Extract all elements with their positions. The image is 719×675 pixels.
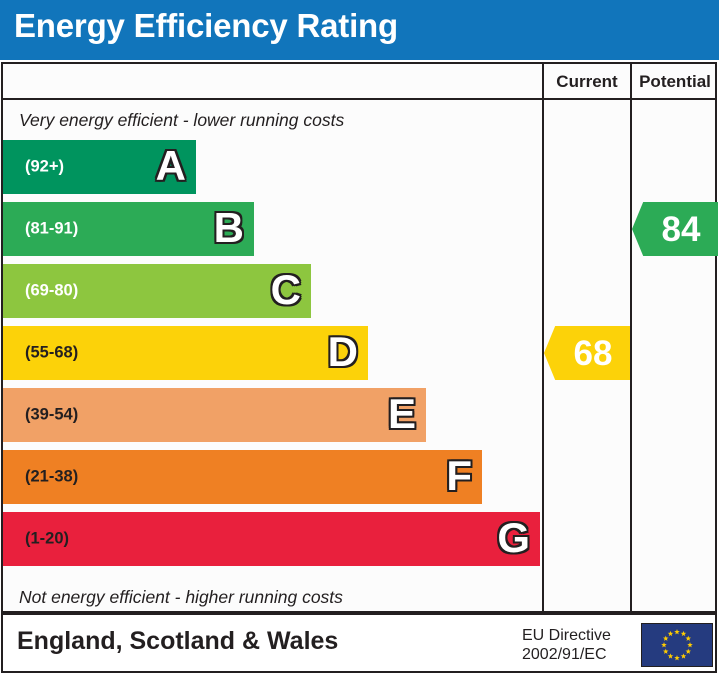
- band-letter-a: A: [156, 145, 186, 187]
- rating-band-c: (69-80)C: [3, 264, 311, 318]
- band-letter-d: D: [328, 331, 358, 373]
- eu-flag-stars: [642, 624, 712, 666]
- rating-marker-current: 68: [544, 326, 630, 380]
- band-range-f: (21-38): [25, 468, 78, 487]
- footer-directive: EU Directive 2002/91/EC: [522, 626, 611, 664]
- caption-top: Very energy efficient - lower running co…: [19, 110, 344, 131]
- rating-band-b: (81-91)B: [3, 202, 254, 256]
- band-range-e: (39-54): [25, 406, 78, 425]
- band-letter-e: E: [388, 393, 416, 435]
- directive-line-1: EU Directive: [522, 626, 611, 645]
- column-header-potential: Potential: [632, 72, 718, 92]
- rating-band-d: (55-68)D: [3, 326, 368, 380]
- page-title: Energy Efficiency Rating: [14, 7, 398, 45]
- rating-band-f: (21-38)F: [3, 450, 482, 504]
- rating-value-potential: 84: [650, 212, 701, 247]
- rating-band-a: (92+)A: [3, 140, 196, 194]
- rating-band-g: (1-20)G: [3, 512, 540, 566]
- band-letter-g: G: [497, 517, 530, 559]
- column-divider-potential: [630, 64, 632, 611]
- energy-efficiency-rating-chart: Energy Efficiency Rating Current Potenti…: [0, 0, 719, 675]
- band-range-c: (69-80): [25, 282, 78, 301]
- caption-bottom: Not energy efficient - higher running co…: [19, 587, 343, 608]
- eu-flag-icon: [641, 623, 713, 667]
- band-range-g: (1-20): [25, 530, 69, 549]
- band-range-d: (55-68): [25, 344, 78, 363]
- band-range-a: (92+): [25, 158, 64, 177]
- directive-line-2: 2002/91/EC: [522, 645, 611, 664]
- rating-grid: Current Potential Very energy efficient …: [1, 62, 717, 613]
- chart-footer: England, Scotland & Wales EU Directive 2…: [1, 613, 717, 673]
- rating-marker-potential: 84: [632, 202, 718, 256]
- band-range-b: (81-91): [25, 220, 78, 239]
- column-header-current: Current: [544, 72, 630, 92]
- band-letter-f: F: [446, 455, 472, 497]
- band-letter-b: B: [214, 207, 244, 249]
- chart-title-bar: Energy Efficiency Rating: [0, 0, 719, 60]
- column-divider-current: [542, 64, 544, 611]
- rating-value-current: 68: [562, 336, 613, 371]
- rating-band-e: (39-54)E: [3, 388, 426, 442]
- rating-bands: (92+)A(81-91)B(69-80)C(55-68)D(39-54)E(2…: [3, 140, 542, 580]
- band-letter-c: C: [271, 269, 301, 311]
- footer-region-label: England, Scotland & Wales: [17, 627, 338, 656]
